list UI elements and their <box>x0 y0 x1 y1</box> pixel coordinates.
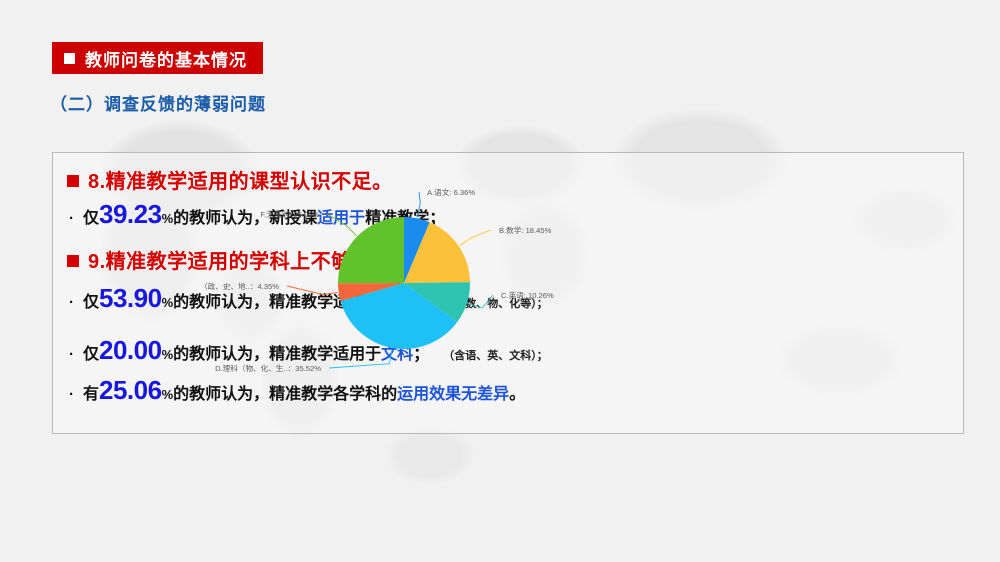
pie-slice-label: D.理科（物、化、生..：35.52% <box>215 363 321 373</box>
pie-slice-label: F.无差别: 25.06% <box>260 209 319 219</box>
line-4-number: 25.06 <box>99 375 162 406</box>
content-panel: 8.精准教学适用的课型认识不足。 · 仅 39.23 % 的教师认为，新授课 适… <box>52 152 964 434</box>
pie-leader-line <box>460 230 491 246</box>
pie-slice-label: E.文科（政、史、地..：4.35% <box>201 281 279 291</box>
line-4-prefix: 有 <box>83 380 99 404</box>
line-4-percent-sign: % <box>162 387 174 402</box>
list-bullet-icon: · <box>69 386 83 403</box>
line-3-number: 20.00 <box>99 335 162 366</box>
line-2-prefix: 仅 <box>83 288 99 312</box>
pie-leader-line <box>468 295 493 308</box>
line-2-number: 53.90 <box>99 283 162 314</box>
line-1-percent-sign: % <box>162 211 174 226</box>
pie-svg: A.语文: 6.36%B.数学: 18.45%C.英语: 10.26%D.理科（… <box>201 167 581 402</box>
list-bullet-icon: · <box>69 210 83 227</box>
section-title-text: 教师问卷的基本情况 <box>85 46 247 71</box>
pie-leader-line <box>327 214 357 236</box>
line-2-percent-sign: % <box>162 295 174 310</box>
pie-leader-line <box>287 286 338 295</box>
line-3-percent-sign: % <box>162 347 174 362</box>
list-bullet-icon: · <box>69 346 83 363</box>
line-3-prefix: 仅 <box>83 340 99 364</box>
square-bullet-icon <box>67 255 79 267</box>
slide-canvas: 教师问卷的基本情况 （二）调查反馈的薄弱问题 8.精准教学适用的课型认识不足。 … <box>0 0 1000 562</box>
pie-slice-label: C.英语: 10.26% <box>501 290 554 300</box>
list-bullet-icon: · <box>69 294 83 311</box>
subject-distribution-pie-chart: A.语文: 6.36%B.数学: 18.45%C.英语: 10.26%D.理科（… <box>201 167 581 402</box>
line-1-number: 39.23 <box>99 199 162 230</box>
pie-slice-label: B.数学: 18.45% <box>499 225 552 235</box>
line-1-prefix: 仅 <box>83 204 99 228</box>
square-bullet-icon <box>64 53 75 64</box>
section-title-badge: 教师问卷的基本情况 <box>52 42 263 74</box>
pie-leader-line <box>329 349 392 368</box>
pie-leader-line <box>417 192 420 217</box>
square-bullet-icon <box>67 175 79 187</box>
pie-slice-label: A.语文: 6.36% <box>427 187 475 197</box>
subsection-title: （二）调查反馈的薄弱问题 <box>50 90 266 115</box>
